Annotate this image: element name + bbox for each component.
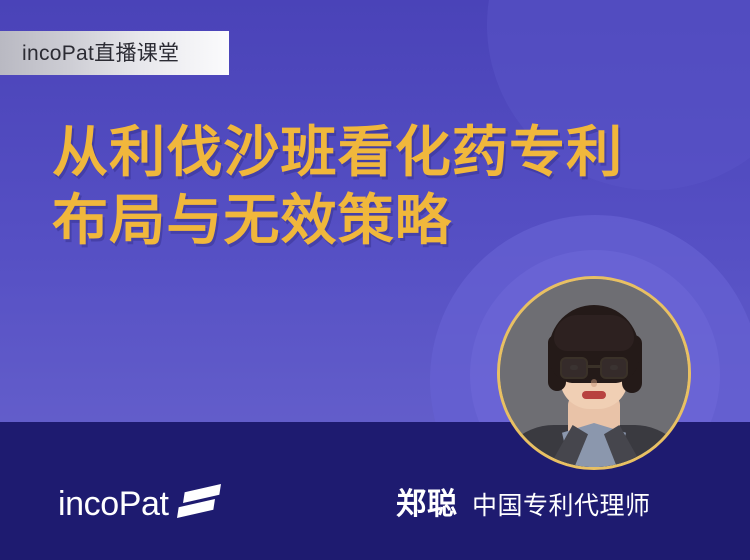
glasses-bridge — [588, 365, 600, 368]
avatar-fringe — [554, 315, 634, 351]
avatar-lips — [582, 391, 606, 399]
brand-slash-icon — [179, 487, 219, 521]
webinar-poster: incoPat直播课堂 从利伐沙班看化药专利 布局与无效策略 — [0, 0, 750, 560]
avatar-nose — [591, 379, 597, 387]
page-title-line-1: 从利伐沙班看化药专利 — [52, 118, 725, 186]
channel-badge-label: incoPat直播课堂 — [0, 43, 179, 64]
avatar — [497, 276, 691, 470]
page-title-line-2: 布局与无效策略 — [52, 186, 725, 254]
speaker-credit: 郑聪 中国专利代理师 — [396, 490, 651, 520]
speaker-name: 郑聪 — [396, 490, 458, 520]
channel-badge: incoPat直播课堂 — [0, 31, 229, 75]
glasses-lens-left — [560, 357, 588, 379]
brand-logo: incoPat — [58, 487, 219, 521]
brand-logo-wordmark: incoPat — [58, 487, 169, 521]
speaker-role: 中国专利代理师 — [472, 494, 651, 519]
page-title: 从利伐沙班看化药专利 布局与无效策略 — [52, 118, 712, 254]
glasses-lens-right — [600, 357, 628, 379]
avatar-photo — [500, 279, 688, 467]
